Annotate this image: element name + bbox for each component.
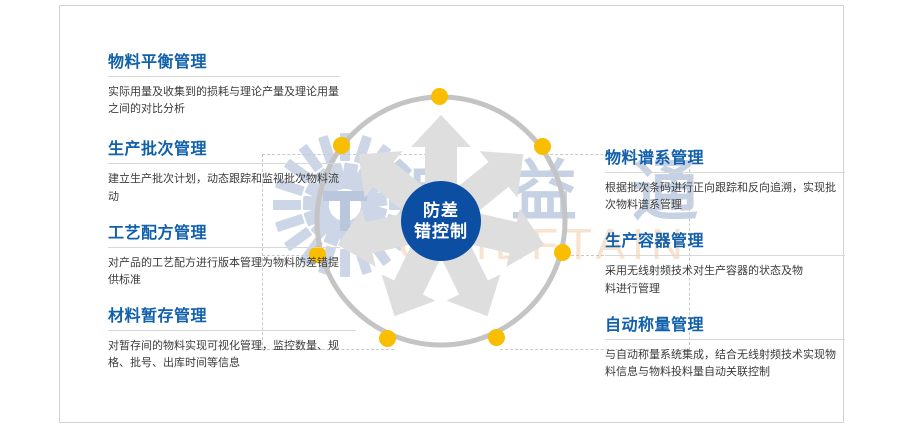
feature-block-material-staging: 材料暂存管理 对暂存间的物料实现可视化管理，监控数量、规格、批号、出库时间等信息	[108, 306, 340, 371]
feature-desc: 实际用量及收集到的损耗与理论产量及理论用量之间的对比分析	[108, 83, 340, 117]
left-feature-column: 物料平衡管理 实际用量及收集到的损耗与理论产量及理论用量之间的对比分析 生产批次…	[108, 52, 340, 371]
feature-block-auto-weighing: 自动称量管理 与自动称量系统集成，结合无线射频技术实现物料信息与物料投料量自动关…	[605, 315, 845, 380]
feature-block-material-balance: 物料平衡管理 实际用量及收集到的损耗与理论产量及理论用量之间的对比分析	[108, 52, 340, 117]
feature-title: 生产容器管理	[605, 231, 845, 250]
node-bottom-right[interactable]	[488, 329, 505, 346]
right-feature-column: 物料谱系管理 根据批次条码进行正向跟踪和反向追溯，实现批次物料谱系管理 生产容器…	[605, 148, 845, 380]
feature-block-production-container: 生产容器管理 采用无线射频技术对生产容器的状态及物料进行管理	[605, 231, 845, 296]
title-rule	[108, 163, 340, 164]
feature-desc: 对暂存间的物料实现可视化管理，监控数量、规格、批号、出库时间等信息	[108, 337, 356, 371]
node-mid-right[interactable]	[554, 244, 571, 261]
title-rule	[605, 172, 845, 173]
feature-title: 物料谱系管理	[605, 148, 845, 167]
feature-title: 自动称量管理	[605, 315, 845, 334]
feature-desc: 与自动称量系统集成，结合无线射频技术实现物料信息与物料投料量自动关联控制	[605, 346, 845, 380]
title-rule	[108, 330, 356, 331]
circular-diagram: 防差 错控制	[300, 80, 582, 362]
hub-line-1: 防差	[423, 200, 459, 221]
title-rule	[605, 339, 845, 340]
node-top[interactable]	[431, 88, 448, 105]
center-hub: 防差 错控制	[401, 181, 481, 261]
title-rule	[108, 76, 340, 77]
title-rule	[108, 247, 340, 248]
feature-desc: 建立生产批次计划，动态跟踪和监视批次物料流动	[108, 170, 340, 204]
node-upper-right[interactable]	[534, 138, 551, 155]
feature-block-process-recipe: 工艺配方管理 对产品的工艺配方进行版本管理为物料防差错提供标准	[108, 223, 340, 288]
infographic-root: 诚 益 通 CHIEFTAIN	[0, 0, 901, 428]
feature-title: 物料平衡管理	[108, 52, 340, 71]
feature-block-material-genealogy: 物料谱系管理 根据批次条码进行正向跟踪和反向追溯，实现批次物料谱系管理	[605, 148, 845, 213]
feature-desc: 对产品的工艺配方进行版本管理为物料防差错提供标准	[108, 254, 340, 288]
feature-title: 材料暂存管理	[108, 306, 340, 325]
feature-desc: 根据批次条码进行正向跟踪和反向追溯，实现批次物料谱系管理	[605, 179, 845, 213]
feature-block-production-batch: 生产批次管理 建立生产批次计划，动态跟踪和监视批次物料流动	[108, 139, 340, 204]
node-bottom-left[interactable]	[379, 330, 396, 347]
feature-title: 生产批次管理	[108, 139, 340, 158]
title-rule	[605, 255, 845, 256]
hub-line-2: 错控制	[414, 221, 468, 242]
feature-desc: 采用无线射频技术对生产容器的状态及物料进行管理	[605, 262, 805, 296]
feature-title: 工艺配方管理	[108, 223, 340, 242]
